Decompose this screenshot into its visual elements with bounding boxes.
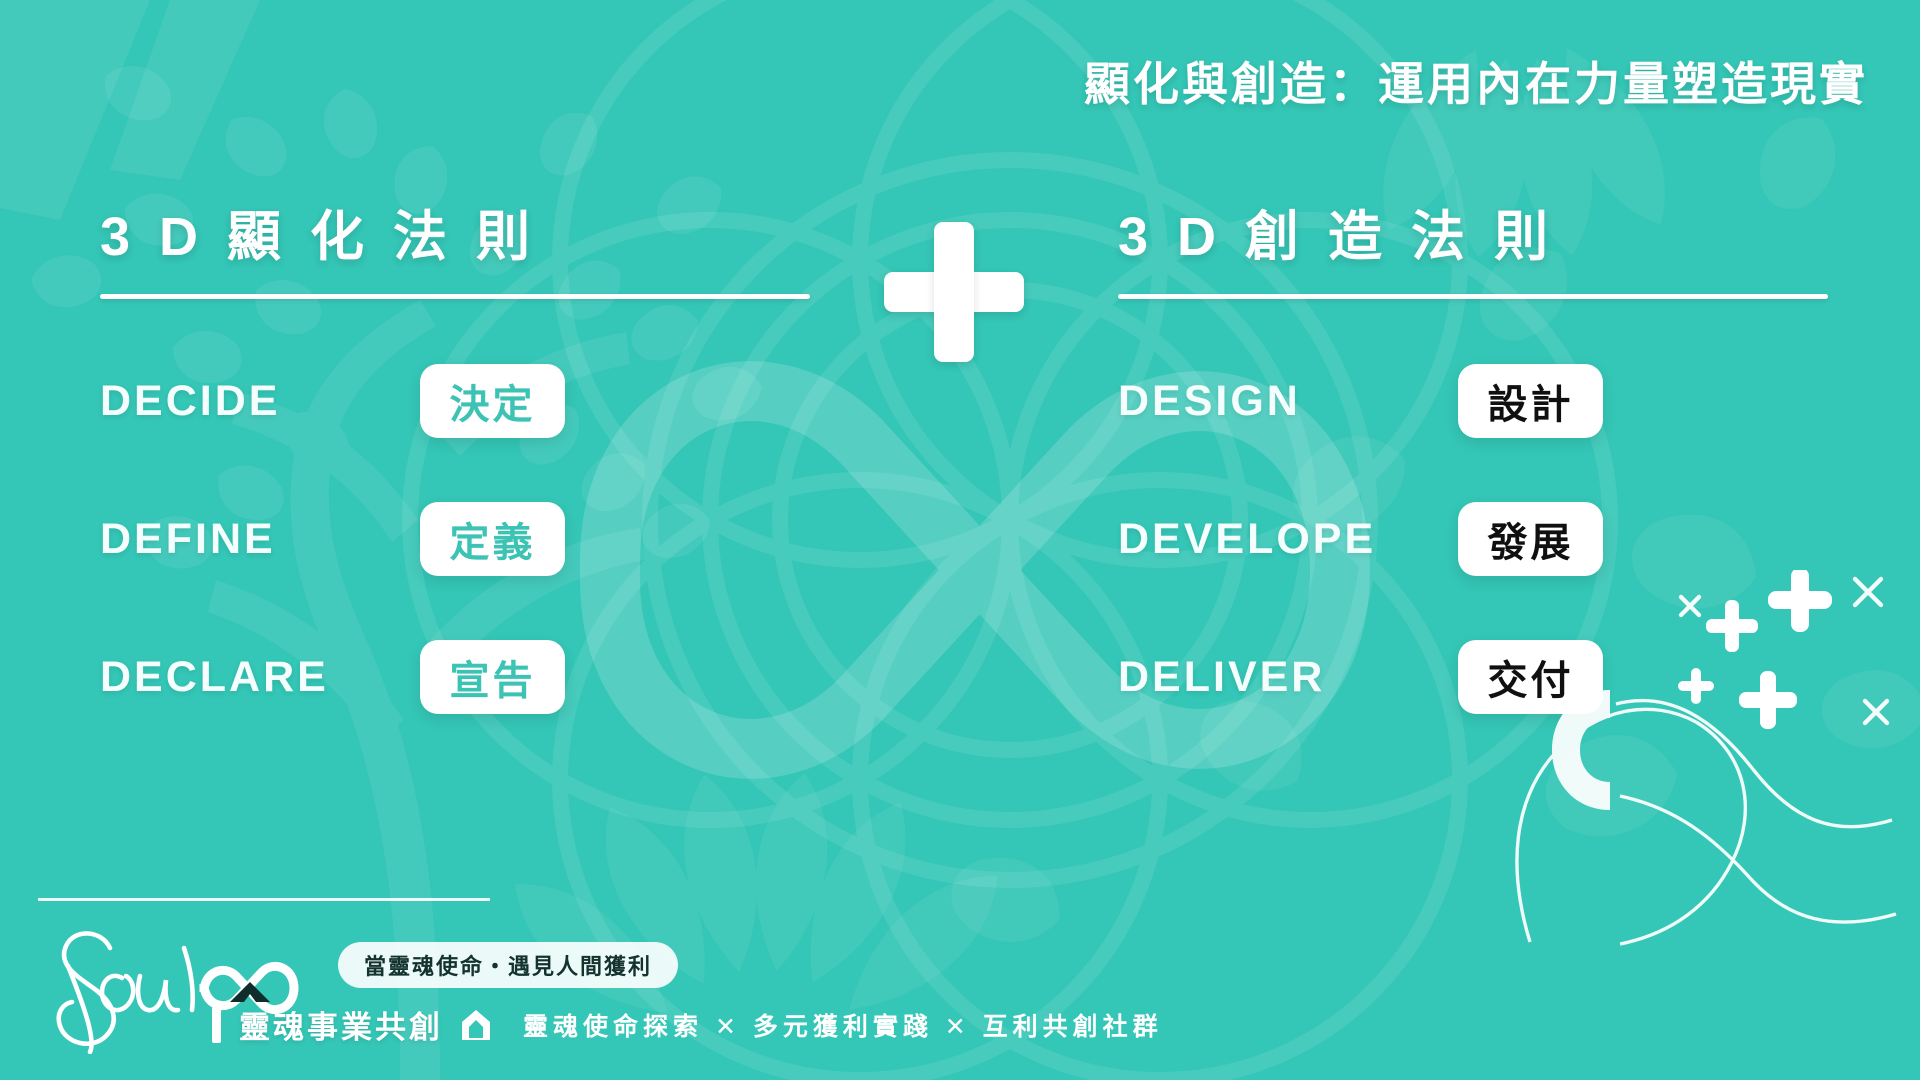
- column-rows: DECIDE 決定 DEFINE 定義 DECLARE 宣告: [100, 353, 820, 725]
- brand-row: 靈魂事業共創 靈魂使命探索 ✕ 多元獲利實踐 ✕ 互利共創社群: [212, 1002, 1163, 1047]
- term-label: DEFINE: [100, 515, 420, 564]
- brand-name: 靈魂事業共創: [239, 1002, 443, 1047]
- house-icon: [461, 1008, 491, 1042]
- translation-badge: 決定: [420, 364, 565, 438]
- term-label: DELIVER: [1118, 653, 1458, 702]
- house-icon: [230, 982, 270, 1002]
- list-item: DEFINE 定義: [100, 491, 820, 587]
- list-item: DESIGN 設計: [1118, 353, 1838, 449]
- brand-pillars: 靈魂使命探索 ✕ 多元獲利實踐 ✕ 互利共創社群: [523, 1007, 1163, 1043]
- tagline-badge: 當靈魂使命・遇見人間獲利: [338, 942, 678, 988]
- footer: 當靈魂使命・遇見人間獲利 靈魂事業共創 靈魂使命探索 ✕ 多元獲利實踐 ✕ 互利…: [0, 880, 1920, 1080]
- translation-badge: 設計: [1458, 364, 1603, 438]
- diagonal-bands: [0, 0, 260, 220]
- term-label: DESIGN: [1118, 377, 1458, 426]
- list-item: DECIDE 決定: [100, 353, 820, 449]
- translation-badge: 定義: [420, 502, 565, 576]
- translation-badge: 宣告: [420, 640, 565, 714]
- page-title: 顯化與創造：運用內在力量塑造現實: [1084, 48, 1868, 114]
- term-label: DEVELOPE: [1118, 515, 1458, 564]
- column-manifestation: 3 D 顯 化 法 則 DECIDE 決定 DEFINE 定義 DECLARE …: [100, 208, 820, 767]
- footer-divider-rule: [38, 898, 490, 901]
- column-heading: 3 D 創 造 法 則: [1118, 208, 1838, 267]
- translation-badge: 發展: [1458, 502, 1603, 576]
- column-divider-rule: [100, 294, 810, 299]
- brand-accent-bar: [212, 1007, 221, 1043]
- list-item: DECLARE 宣告: [100, 629, 820, 725]
- column-heading: 3 D 顯 化 法 則: [100, 208, 820, 267]
- slide-canvas: 顯化與創造：運用內在力量塑造現實 3 D 顯 化 法 則 DECIDE 決定 D…: [0, 0, 1920, 1080]
- plus-icon: [884, 222, 1024, 362]
- term-label: DECIDE: [100, 377, 420, 426]
- column-divider-rule: [1118, 294, 1828, 299]
- term-label: DECLARE: [100, 653, 420, 702]
- plus-icon-vertical-bar: [934, 222, 974, 362]
